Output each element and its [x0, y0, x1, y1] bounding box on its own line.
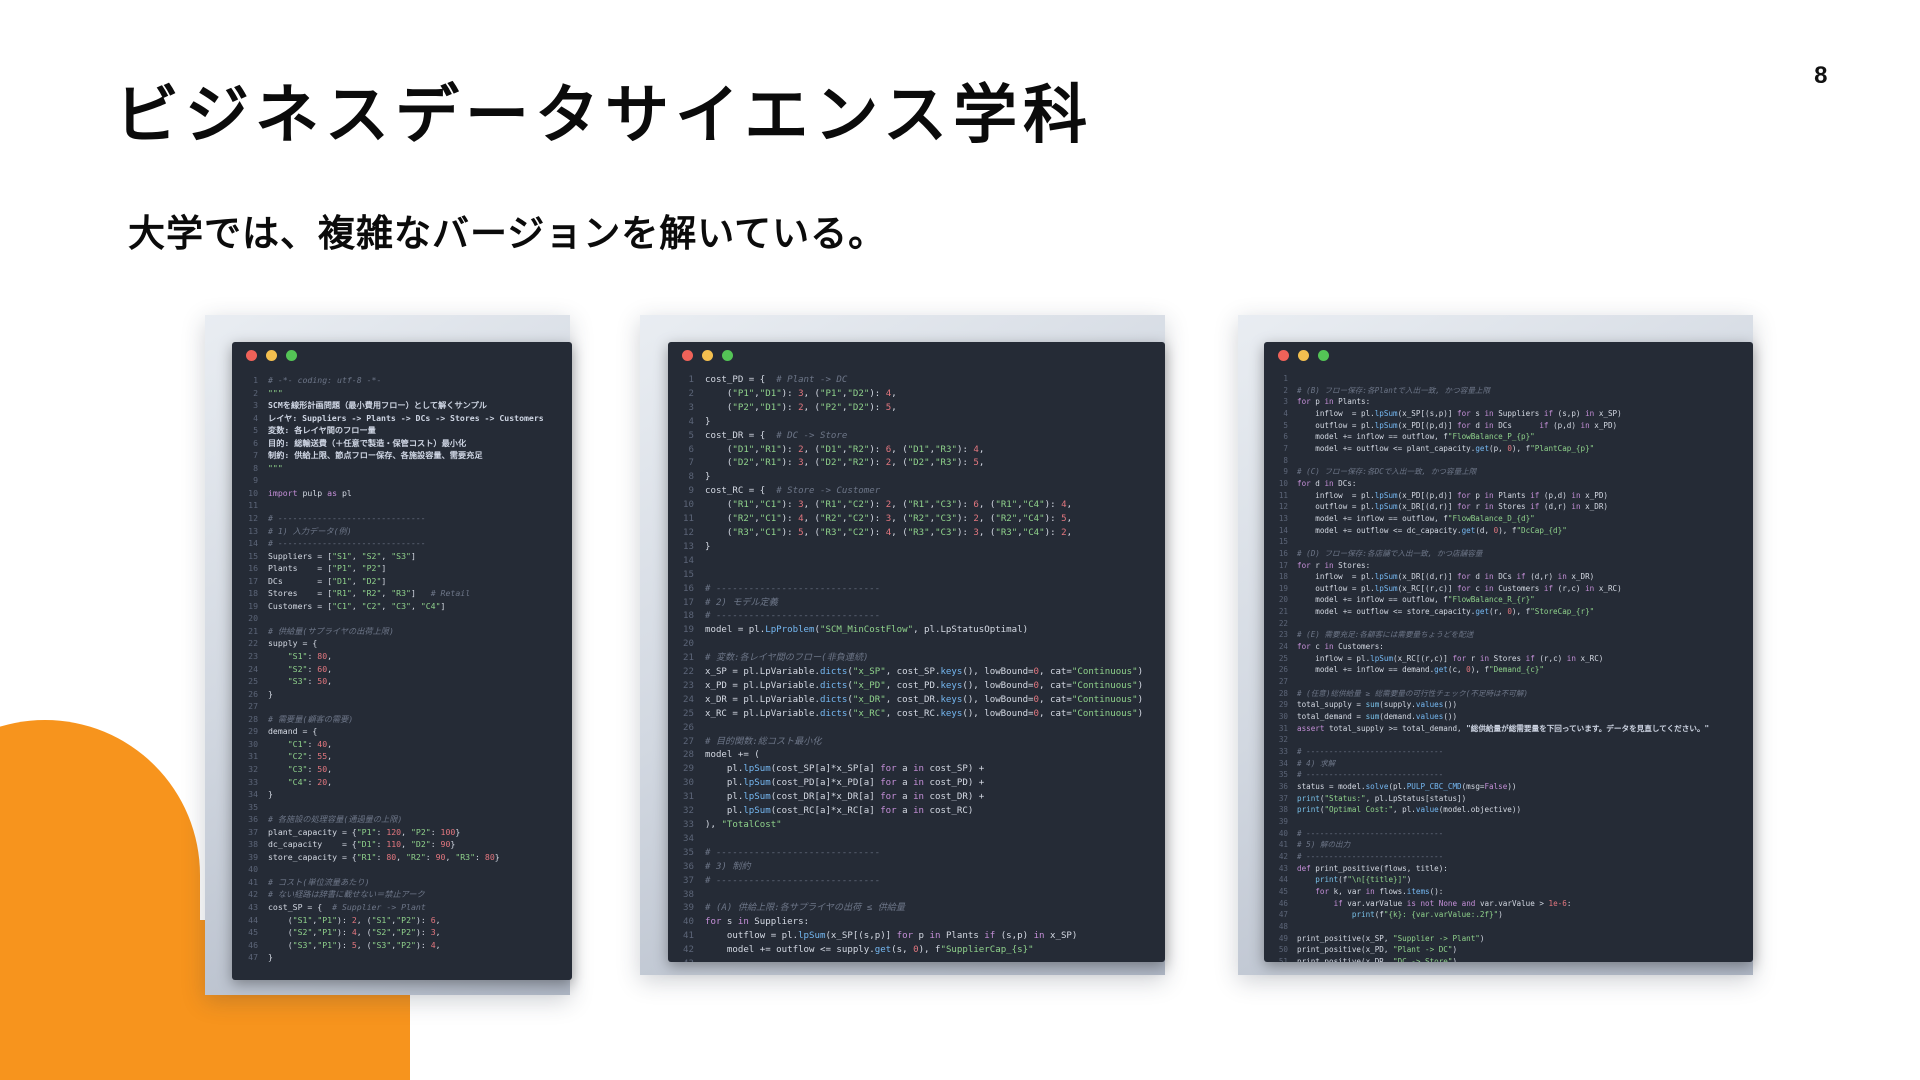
code-panels: 1# -*- coding: utf-8 -*-2"""3SCMを線形計画問題（…: [0, 0, 1920, 1080]
close-dot-icon[interactable]: [682, 350, 693, 361]
close-dot-icon[interactable]: [246, 350, 257, 361]
window-titlebar: [232, 342, 572, 368]
minimize-dot-icon[interactable]: [1298, 350, 1309, 361]
maximize-dot-icon[interactable]: [722, 350, 733, 361]
slide-canvas: 8 ビジネスデータサイエンス学科 大学では、複雑なバージョンを解いている。 1#…: [0, 0, 1920, 1080]
minimize-dot-icon[interactable]: [702, 350, 713, 361]
window-titlebar: [668, 342, 1165, 368]
window-titlebar: [1264, 342, 1753, 368]
code-panel-2-window[interactable]: 1cost_PD = { # Plant -> DC2 ("P1","D1"):…: [668, 342, 1165, 962]
minimize-dot-icon[interactable]: [266, 350, 277, 361]
code-panel-1-window[interactable]: 1# -*- coding: utf-8 -*-2"""3SCMを線形計画問題（…: [232, 342, 572, 980]
code-content-1[interactable]: 1# -*- coding: utf-8 -*-2"""3SCMを線形計画問題（…: [232, 368, 572, 964]
maximize-dot-icon[interactable]: [286, 350, 297, 361]
close-dot-icon[interactable]: [1278, 350, 1289, 361]
code-panel-3-window[interactable]: 12# (B) フロー保存:各Plantで入出一致, かつ容量上限3for p …: [1264, 342, 1753, 962]
code-content-2[interactable]: 1cost_PD = { # Plant -> DC2 ("P1","D1"):…: [668, 368, 1165, 962]
code-content-3[interactable]: 12# (B) フロー保存:各Plantで入出一致, かつ容量上限3for p …: [1264, 368, 1753, 962]
maximize-dot-icon[interactable]: [1318, 350, 1329, 361]
